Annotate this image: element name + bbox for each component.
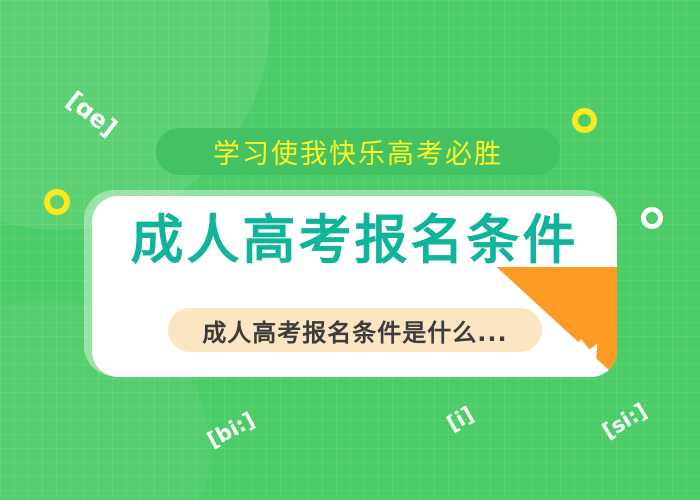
slogan-text: 学习使我快乐高考必胜 <box>213 132 503 171</box>
phonetic-bi-decoration: [bi:] <box>203 408 258 453</box>
phonetic-si-decoration: [si:] <box>598 399 651 444</box>
main-card: 成人高考报名条件 成人高考报名条件是什么... <box>92 196 617 377</box>
phonetic-i-decoration: [i] <box>443 402 478 436</box>
decorative-ring-yellow-left <box>44 189 70 215</box>
poster-canvas: [ɑe] [bi:] [i] [si:] 学习使我快乐高考必胜 成人高考报名条件… <box>0 0 700 500</box>
subtitle-text: 成人高考报名条件是什么... <box>202 313 507 348</box>
subtitle-banner: 成人高考报名条件是什么... <box>168 308 542 352</box>
phonetic-ae-decoration: [ɑe] <box>61 86 122 142</box>
crown-icon <box>563 337 599 363</box>
slogan-banner: 学习使我快乐高考必胜 <box>156 128 560 175</box>
page-title: 成人高考报名条件 <box>92 214 617 267</box>
decorative-ring-white <box>641 207 663 229</box>
decorative-ring-yellow-right <box>572 108 597 133</box>
